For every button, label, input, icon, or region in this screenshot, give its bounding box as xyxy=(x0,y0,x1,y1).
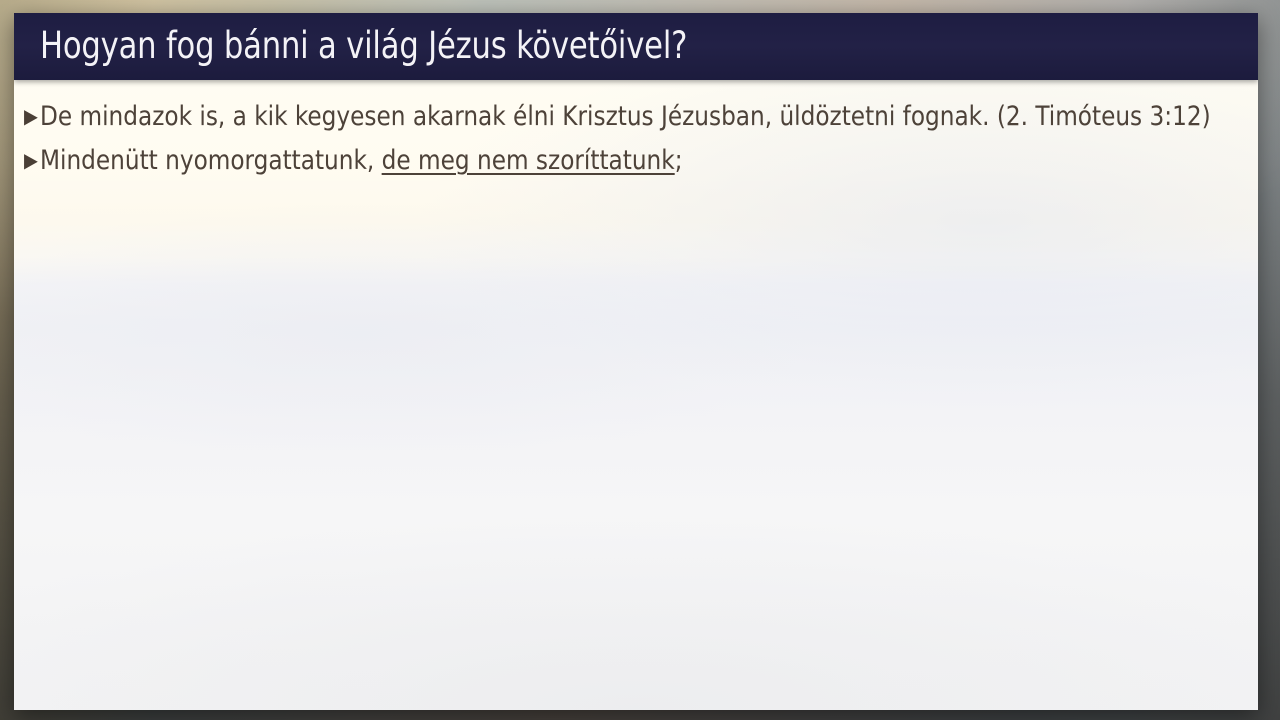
slide-title-bar: Hogyan fog bánni a világ Jézus követőive… xyxy=(14,13,1258,80)
page-title: Hogyan fog bánni a világ Jézus követőive… xyxy=(40,27,687,66)
list-item-text: Mindenütt nyomorgattatunk, de meg nem sz… xyxy=(40,142,683,180)
text-run: ; xyxy=(675,145,683,176)
text-run: Mindenütt nyomorgattatunk, xyxy=(40,145,382,176)
bullet-triangle-icon: ▶ xyxy=(24,150,38,170)
slide-canvas: Hogyan fog bánni a világ Jézus követőive… xyxy=(14,13,1258,710)
list-item-text: De mindazok is, a kik kegyesen akarnak é… xyxy=(40,98,1211,136)
bullet-triangle-icon: ▶ xyxy=(24,106,38,126)
list-item: ▶ Mindenütt nyomorgattatunk, de meg nem … xyxy=(24,142,1248,180)
text-run-underlined: de meg nem szoríttatunk xyxy=(381,145,674,176)
list-item: ▶ De mindazok is, a kik kegyesen akarnak… xyxy=(24,98,1248,136)
text-run: De mindazok is, a kik kegyesen akarnak é… xyxy=(40,101,1211,132)
slide-frame: Hogyan fog bánni a világ Jézus követőive… xyxy=(0,0,1280,720)
slide-body: ▶ De mindazok is, a kik kegyesen akarnak… xyxy=(14,80,1258,187)
